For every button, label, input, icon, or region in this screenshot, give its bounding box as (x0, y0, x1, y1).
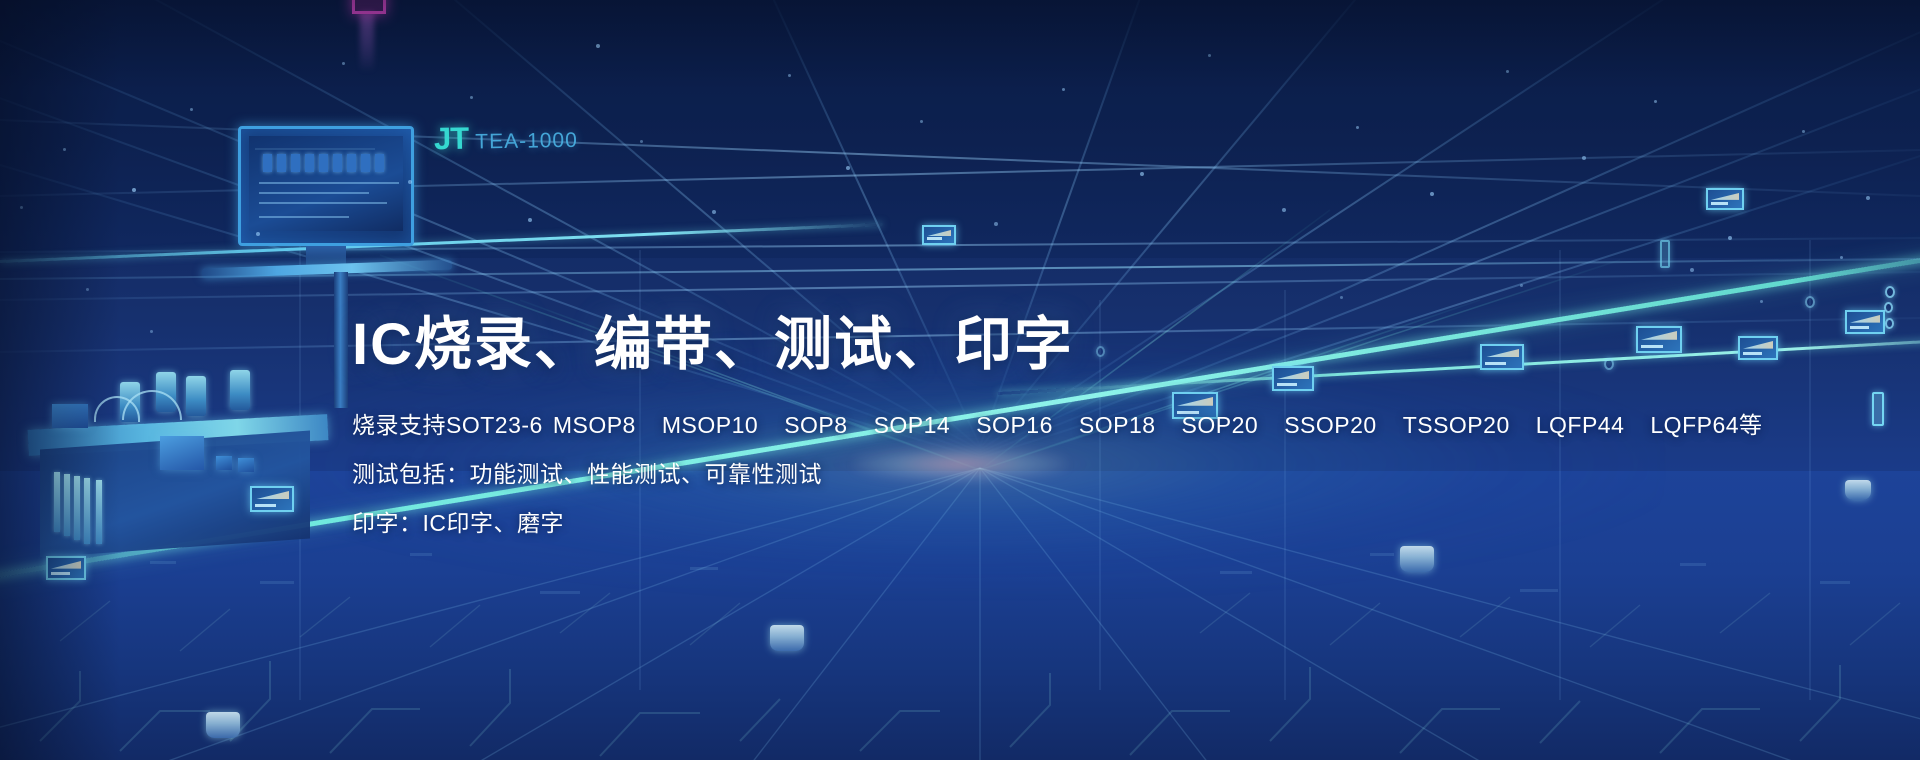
ic-service-banner: JT TEA-1000 IC烧录、编带、测试、印字 烧录支持SOT23-6 MS… (0, 0, 1920, 760)
floating-screen-icon (922, 225, 956, 245)
indicator-pill (1872, 392, 1884, 426)
package-tag: LQFP64等 (1650, 414, 1762, 437)
floating-screen-icon (250, 486, 294, 512)
marking-scope-line: 印字：IC印字、磨字 (352, 512, 1652, 535)
service-detail-list: 烧录支持SOT23-6 MSOP8 MSOP10 SOP8 SOP14 SOP1… (352, 414, 1652, 535)
package-tag: SOP18 (1079, 414, 1156, 437)
package-tag: SOP8 (784, 414, 847, 437)
testing-scope-line: 测试包括：功能测试、性能测试、可靠性测试 (352, 463, 1652, 486)
package-tag: MSOP10 (662, 414, 758, 437)
node-ring (1885, 318, 1894, 329)
rail-foot-left (206, 712, 240, 738)
supported-packages-line: 烧录支持SOT23-6 MSOP8 MSOP10 SOP8 SOP14 SOP1… (352, 414, 1652, 437)
rail-foot-far-right (1845, 480, 1871, 500)
magenta-light-beam (360, 12, 374, 72)
workstation-monitor-icon (238, 126, 414, 246)
banner-content: IC烧录、编带、测试、印字 烧录支持SOT23-6 MSOP8 MSOP10 S… (352, 310, 1652, 561)
package-tag: LQFP44 (1536, 414, 1625, 437)
monitor-frame (238, 126, 414, 246)
logo-mark-text: JT (434, 121, 469, 158)
floating-screen-icon (46, 556, 86, 580)
package-tag: SSOP20 (1284, 414, 1377, 437)
package-tag: TSSOP20 (1403, 414, 1510, 437)
assembly-machine-graphic (10, 300, 340, 550)
page-title: IC烧录、编带、测试、印字 (352, 310, 1652, 380)
package-tag: SOP20 (1182, 414, 1259, 437)
logo-model-text: TEA-1000 (475, 129, 578, 155)
package-tag: SOP16 (976, 414, 1053, 437)
node-ring (1884, 302, 1893, 313)
packages-lead-label: 烧录支持SOT23-6 (352, 414, 543, 437)
monitor-screen (249, 136, 403, 231)
machine-brand-logo: JT TEA-1000 (434, 119, 578, 158)
indicator-pill (1660, 240, 1670, 268)
rail-foot-center (770, 625, 804, 651)
floating-screen-icon (1738, 336, 1778, 360)
node-ring (1885, 286, 1895, 298)
package-tag: MSOP8 (553, 414, 636, 437)
magenta-indicator-icon (352, 0, 386, 14)
package-tag: SOP14 (874, 414, 951, 437)
floating-screen-icon (1706, 188, 1744, 210)
floating-screen-icon (1845, 310, 1885, 334)
node-ring (1805, 296, 1815, 308)
